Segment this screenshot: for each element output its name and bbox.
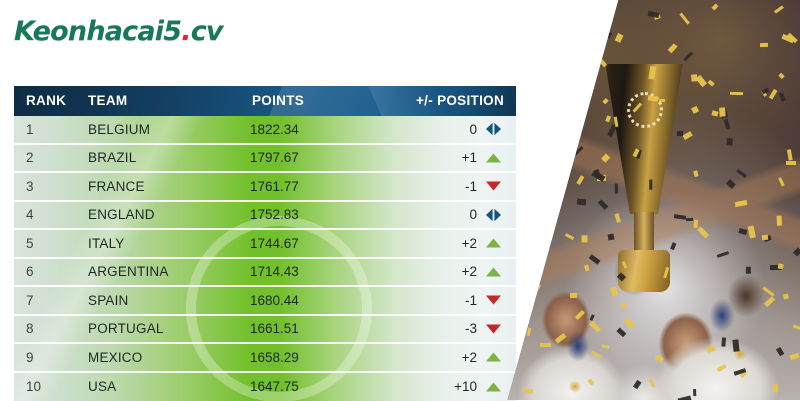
- confetti-piece: [694, 220, 699, 228]
- confetti-piece: [527, 165, 533, 175]
- cell-points: 1714.43: [244, 264, 380, 279]
- cell-points: 1744.67: [244, 236, 380, 251]
- confetti-piece: [508, 22, 517, 31]
- confetti-piece: [520, 73, 527, 80]
- same-icon: [485, 122, 502, 136]
- cell-points: 1661.51: [244, 321, 380, 336]
- confetti-piece: [584, 264, 589, 271]
- confetti-piece: [776, 347, 785, 357]
- photo-inner: [500, 0, 800, 400]
- confetti-piece: [614, 116, 619, 126]
- confetti-piece: [580, 6, 589, 18]
- cell-team: MEXICO: [88, 350, 244, 365]
- confetti-piece: [763, 287, 775, 297]
- table-row[interactable]: 2BRAZIL1797.67+1: [14, 145, 516, 174]
- confetti-piece: [670, 243, 677, 251]
- confetti-piece: [716, 364, 726, 372]
- cell-team: FRANCE: [88, 179, 244, 194]
- confetti-piece: [505, 65, 516, 77]
- confetti-piece: [746, 267, 751, 274]
- cell-team: USA: [88, 379, 244, 394]
- table-row[interactable]: 6ARGENTINA1714.43+2: [14, 259, 516, 288]
- cell-points: 1797.67: [244, 150, 380, 165]
- position-delta-value: +2: [451, 264, 477, 279]
- confetti-piece: [693, 389, 697, 396]
- table-row[interactable]: 7SPAIN1680.44-1: [14, 287, 516, 316]
- confetti-piece: [649, 67, 657, 80]
- position-delta-value: +2: [451, 236, 477, 251]
- cell-rank: 8: [26, 321, 88, 336]
- confetti-piece: [523, 196, 533, 206]
- table-row[interactable]: 1BELGIUM1822.340: [14, 116, 516, 145]
- trophy-celebration-photo: [500, 0, 800, 400]
- site-logo[interactable]: Keonhacai5.cv: [14, 16, 223, 47]
- confetti-piece: [786, 161, 796, 164]
- confetti-piece: [707, 79, 714, 86]
- confetti-piece: [622, 261, 628, 269]
- confetti-piece: [734, 200, 747, 207]
- cell-points: 1658.29: [244, 350, 380, 365]
- confetti-piece: [697, 227, 709, 239]
- confetti-piece: [712, 4, 719, 11]
- up-icon: [485, 381, 502, 393]
- cell-position: -1: [380, 293, 506, 308]
- confetti-piece: [726, 138, 732, 145]
- confetti-piece: [617, 273, 626, 282]
- cell-position: -3: [380, 321, 506, 336]
- confetti-piece: [603, 98, 610, 105]
- confetti-piece: [677, 395, 690, 400]
- confetti-piece: [527, 328, 532, 337]
- confetti-piece: [614, 183, 618, 193]
- cell-position: -1: [380, 179, 506, 194]
- confetti-piece: [549, 192, 558, 201]
- confetti-piece: [522, 388, 533, 394]
- logo-text-tld: cv: [191, 16, 223, 47]
- confetti-piece: [569, 89, 582, 97]
- confetti-piece: [774, 5, 784, 13]
- cell-team: BRAZIL: [88, 150, 244, 165]
- column-header-rank: RANK: [26, 86, 88, 116]
- confetti-piece: [659, 99, 665, 103]
- confetti-piece: [562, 136, 573, 146]
- cell-rank: 3: [26, 179, 88, 194]
- fifa-ranking-table: RANK TEAM POINTS +/- POSITION 1BELGIUM18…: [14, 86, 516, 401]
- cell-rank: 10: [26, 379, 88, 394]
- confetti-piece: [691, 106, 699, 114]
- confetti-piece: [599, 59, 607, 68]
- position-delta-value: +2: [451, 350, 477, 365]
- cell-rank: 2: [26, 150, 88, 165]
- logo-text-main: Keonhacai5: [14, 16, 181, 47]
- position-delta-value: -3: [451, 321, 477, 336]
- cell-points: 1680.44: [244, 293, 380, 308]
- confetti-piece: [575, 310, 585, 320]
- column-header-points: POINTS: [246, 86, 382, 116]
- confetti-piece: [683, 52, 693, 62]
- cell-team: ITALY: [88, 236, 244, 251]
- confetti-piece: [540, 343, 551, 347]
- confetti-piece: [617, 328, 627, 338]
- confetti-piece: [632, 102, 642, 112]
- confetti-piece: [738, 228, 747, 235]
- confetti-piece: [601, 153, 610, 162]
- confetti-piece: [550, 80, 558, 84]
- confetti-piece: [717, 252, 729, 259]
- confetti-piece: [582, 236, 588, 243]
- up-icon: [485, 152, 502, 164]
- cell-points: 1752.83: [244, 207, 380, 222]
- confetti-piece: [516, 112, 522, 116]
- cell-position: +10: [380, 379, 506, 394]
- confetti-piece: [597, 199, 608, 210]
- confetti-piece: [546, 192, 554, 200]
- cell-position: 0: [380, 207, 506, 222]
- confetti-piece: [591, 351, 602, 359]
- confetti-piece: [615, 33, 624, 43]
- cell-points: 1822.34: [244, 122, 380, 137]
- confetti-piece: [577, 175, 585, 185]
- confetti-piece: [574, 146, 584, 155]
- confetti-piece: [614, 213, 621, 223]
- confetti-piece: [648, 11, 659, 18]
- confetti-piece: [764, 295, 776, 307]
- cell-team: ARGENTINA: [88, 264, 244, 279]
- confetti-piece: [544, 189, 554, 196]
- confetti-piece: [778, 263, 784, 269]
- confetti-piece: [778, 73, 785, 80]
- confetti-piece: [719, 108, 725, 117]
- cell-rank: 9: [26, 350, 88, 365]
- cell-rank: 7: [26, 293, 88, 308]
- confetti-piece: [566, 106, 571, 115]
- confetti-piece: [721, 338, 726, 348]
- confetti-piece: [649, 180, 652, 190]
- table-header-row: RANK TEAM POINTS +/- POSITION: [14, 86, 516, 116]
- confetti-piece: [555, 333, 566, 343]
- confetti-piece: [556, 117, 559, 122]
- confetti-piece: [588, 321, 600, 333]
- position-delta-value: -1: [451, 293, 477, 308]
- confetti-piece: [550, 57, 557, 65]
- confetti-piece: [606, 31, 612, 38]
- confetti-piece: [510, 11, 517, 19]
- column-header-team: TEAM: [88, 86, 246, 116]
- table-row[interactable]: 4ENGLAND1752.830: [14, 202, 516, 231]
- cell-position: +1: [380, 150, 506, 165]
- cell-rank: 6: [26, 264, 88, 279]
- position-delta-value: -1: [451, 179, 477, 194]
- confetti-piece: [531, 273, 537, 280]
- confetti-piece: [668, 44, 677, 53]
- confetti-piece: [624, 317, 635, 329]
- confetti-piece: [587, 379, 594, 386]
- confetti-piece: [648, 96, 659, 102]
- cell-team: ENGLAND: [88, 207, 244, 222]
- confetti-piece: [527, 18, 538, 26]
- logo-dot: .: [181, 16, 190, 47]
- confetti-piece: [726, 179, 736, 188]
- cell-points: 1761.77: [244, 179, 380, 194]
- confetti-piece: [541, 44, 551, 57]
- confetti-piece: [569, 293, 576, 298]
- confetti-piece: [730, 92, 743, 95]
- confetti-piece: [532, 159, 540, 167]
- confetti-piece: [723, 119, 730, 130]
- position-delta-value: +1: [451, 150, 477, 165]
- confetti-piece: [654, 355, 663, 363]
- confetti-piece: [607, 234, 614, 241]
- table-row[interactable]: 9MEXICO1658.29+2: [14, 344, 516, 373]
- confetti-piece: [577, 198, 587, 205]
- confetti-piece: [777, 216, 783, 226]
- confetti-piece: [663, 267, 669, 278]
- confetti-piece: [792, 247, 800, 256]
- confetti-piece: [596, 12, 605, 17]
- confetti-piece: [707, 346, 716, 353]
- confetti-piece: [553, 136, 566, 144]
- confetti-piece: [760, 43, 768, 47]
- confetti-piece: [598, 40, 607, 47]
- up-icon: [485, 351, 502, 363]
- confetti-piece: [793, 324, 800, 330]
- column-header-position: +/- POSITION: [382, 86, 506, 116]
- confetti-piece: [693, 170, 698, 177]
- confetti-piece: [733, 340, 740, 353]
- down-icon: [485, 294, 502, 306]
- confetti-piece: [674, 214, 687, 220]
- cell-rank: 1: [26, 122, 88, 137]
- position-delta-value: 0: [451, 207, 477, 222]
- cell-rank: 4: [26, 207, 88, 222]
- table-row[interactable]: 5ITALY1744.67+2: [14, 230, 516, 259]
- confetti-piece: [557, 46, 560, 57]
- confetti-piece: [562, 51, 573, 62]
- confetti-piece: [790, 353, 800, 360]
- confetti-piece: [761, 235, 768, 241]
- confetti-piece: [787, 149, 793, 161]
- up-icon: [485, 266, 502, 278]
- confetti-piece: [736, 169, 747, 178]
- confetti-piece: [606, 116, 611, 123]
- table-row[interactable]: 10USA1647.75+10: [14, 373, 516, 401]
- confetti-piece: [686, 218, 693, 221]
- confetti-piece: [778, 177, 785, 186]
- confetti-piece: [779, 93, 786, 103]
- confetti-piece: [748, 225, 756, 238]
- cell-position: +2: [380, 264, 506, 279]
- confetti-piece: [680, 13, 691, 25]
- confetti-piece: [769, 88, 778, 99]
- cell-rank: 5: [26, 236, 88, 251]
- confetti-piece: [527, 159, 534, 169]
- confetti-piece: [519, 158, 526, 165]
- photo-confetti: [500, 0, 800, 400]
- confetti-piece: [564, 233, 573, 240]
- confetti-piece: [712, 110, 719, 117]
- confetti-piece: [682, 131, 693, 140]
- cell-team: PORTUGAL: [88, 321, 244, 336]
- table-row[interactable]: 8PORTUGAL1661.51-3: [14, 316, 516, 345]
- table-body: 1BELGIUM1822.3402BRAZIL1797.67+13FRANCE1…: [14, 116, 516, 401]
- cell-position: 0: [380, 122, 506, 137]
- cell-position: +2: [380, 350, 506, 365]
- confetti-piece: [677, 131, 683, 136]
- confetti-piece: [602, 344, 610, 349]
- confetti-piece: [773, 384, 778, 392]
- confetti-piece: [691, 74, 698, 82]
- table-row[interactable]: 3FRANCE1761.77-1: [14, 173, 516, 202]
- confetti-piece: [566, 61, 571, 65]
- cell-team: BELGIUM: [88, 122, 244, 137]
- confetti-piece: [633, 380, 642, 390]
- up-icon: [485, 237, 502, 249]
- position-delta-value: +10: [451, 379, 477, 394]
- confetti-piece: [611, 286, 619, 296]
- confetti-piece: [534, 283, 542, 291]
- confetti-piece: [586, 66, 590, 75]
- confetti-piece: [696, 75, 707, 87]
- confetti-piece: [594, 169, 601, 179]
- confetti-piece: [782, 293, 789, 299]
- confetti-piece: [589, 254, 601, 265]
- cell-points: 1647.75: [244, 379, 380, 394]
- confetti-piece: [649, 379, 655, 388]
- down-icon: [485, 180, 502, 192]
- position-delta-value: 0: [451, 122, 477, 137]
- cell-position: +2: [380, 236, 506, 251]
- same-icon: [485, 208, 502, 222]
- confetti-piece: [620, 302, 627, 308]
- down-icon: [485, 323, 502, 335]
- cell-team: SPAIN: [88, 293, 244, 308]
